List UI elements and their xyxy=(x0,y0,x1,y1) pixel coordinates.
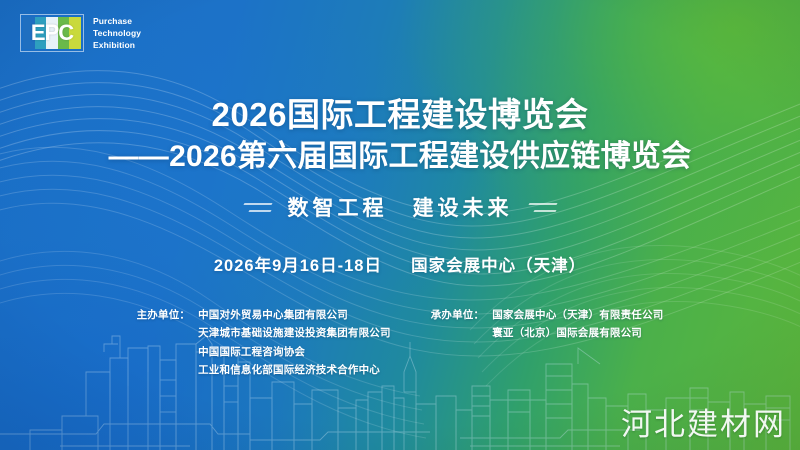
slogan-text: 数智工程 建设未来 xyxy=(288,192,513,222)
expo-banner: EPC Purchase Technology Exhibition 2026国… xyxy=(0,0,800,450)
epc-logo-text: EPC xyxy=(23,17,81,49)
page-title: 2026国际工程建设博览会 xyxy=(0,96,800,135)
background-vignette xyxy=(0,0,800,450)
event-date: 2026年9月16日-18日 xyxy=(214,257,382,275)
epc-logo-mark: EPC xyxy=(20,14,84,52)
list-item: 中国对外贸易中心集团有限公司 xyxy=(198,306,391,324)
site-watermark: 河北建材网 xyxy=(621,399,786,444)
co-host-organizers-label: 承办单位： xyxy=(431,306,485,380)
page-subtitle: ——2026第六届国际工程建设供应链博览会 xyxy=(0,139,800,176)
logo-tagline-line-1: Purchase xyxy=(93,15,141,27)
epc-logo[interactable]: EPC Purchase Technology Exhibition xyxy=(20,14,141,52)
epc-logo-tagline: Purchase Technology Exhibition xyxy=(93,15,141,52)
list-item: 工业和信息化部国际经济技术合作中心 xyxy=(198,361,391,379)
event-venue: 国家会展中心（天津） xyxy=(411,257,586,275)
slash-lines-right-icon xyxy=(529,203,557,212)
list-item: 寰亚（北京）国际会展有限公司 xyxy=(492,324,663,342)
co-host-organizers: 承办单位： 国家会展中心（天津）有限责任公司 寰亚（北京）国际会展有限公司 xyxy=(431,306,664,380)
host-organizers: 主办单位： 中国对外贸易中心集团有限公司 天津城市基础设施建设投资集团有限公司 … xyxy=(137,306,391,380)
list-item: 中国国际工程咨询协会 xyxy=(198,343,391,361)
slogan-row: 数智工程 建设未来 xyxy=(0,192,800,222)
headline-block: 2026国际工程建设博览会 ——2026第六届国际工程建设供应链博览会 xyxy=(0,96,800,176)
list-item: 国家会展中心（天津）有限责任公司 xyxy=(492,306,663,324)
logo-tagline-line-3: Exhibition xyxy=(93,39,141,51)
co-host-organizers-list: 国家会展中心（天津）有限责任公司 寰亚（北京）国际会展有限公司 xyxy=(492,306,663,380)
organizers-block: 主办单位： 中国对外贸易中心集团有限公司 天津城市基础设施建设投资集团有限公司 … xyxy=(0,306,800,380)
host-organizers-list: 中国对外贸易中心集团有限公司 天津城市基础设施建设投资集团有限公司 中国国际工程… xyxy=(198,306,391,380)
logo-tagline-line-2: Technology xyxy=(93,27,141,39)
date-venue-line: 2026年9月16日-18日 国家会展中心（天津） xyxy=(0,252,800,276)
slash-lines-left-icon xyxy=(244,203,272,212)
host-organizers-label: 主办单位： xyxy=(137,306,191,380)
list-item: 天津城市基础设施建设投资集团有限公司 xyxy=(198,324,391,342)
